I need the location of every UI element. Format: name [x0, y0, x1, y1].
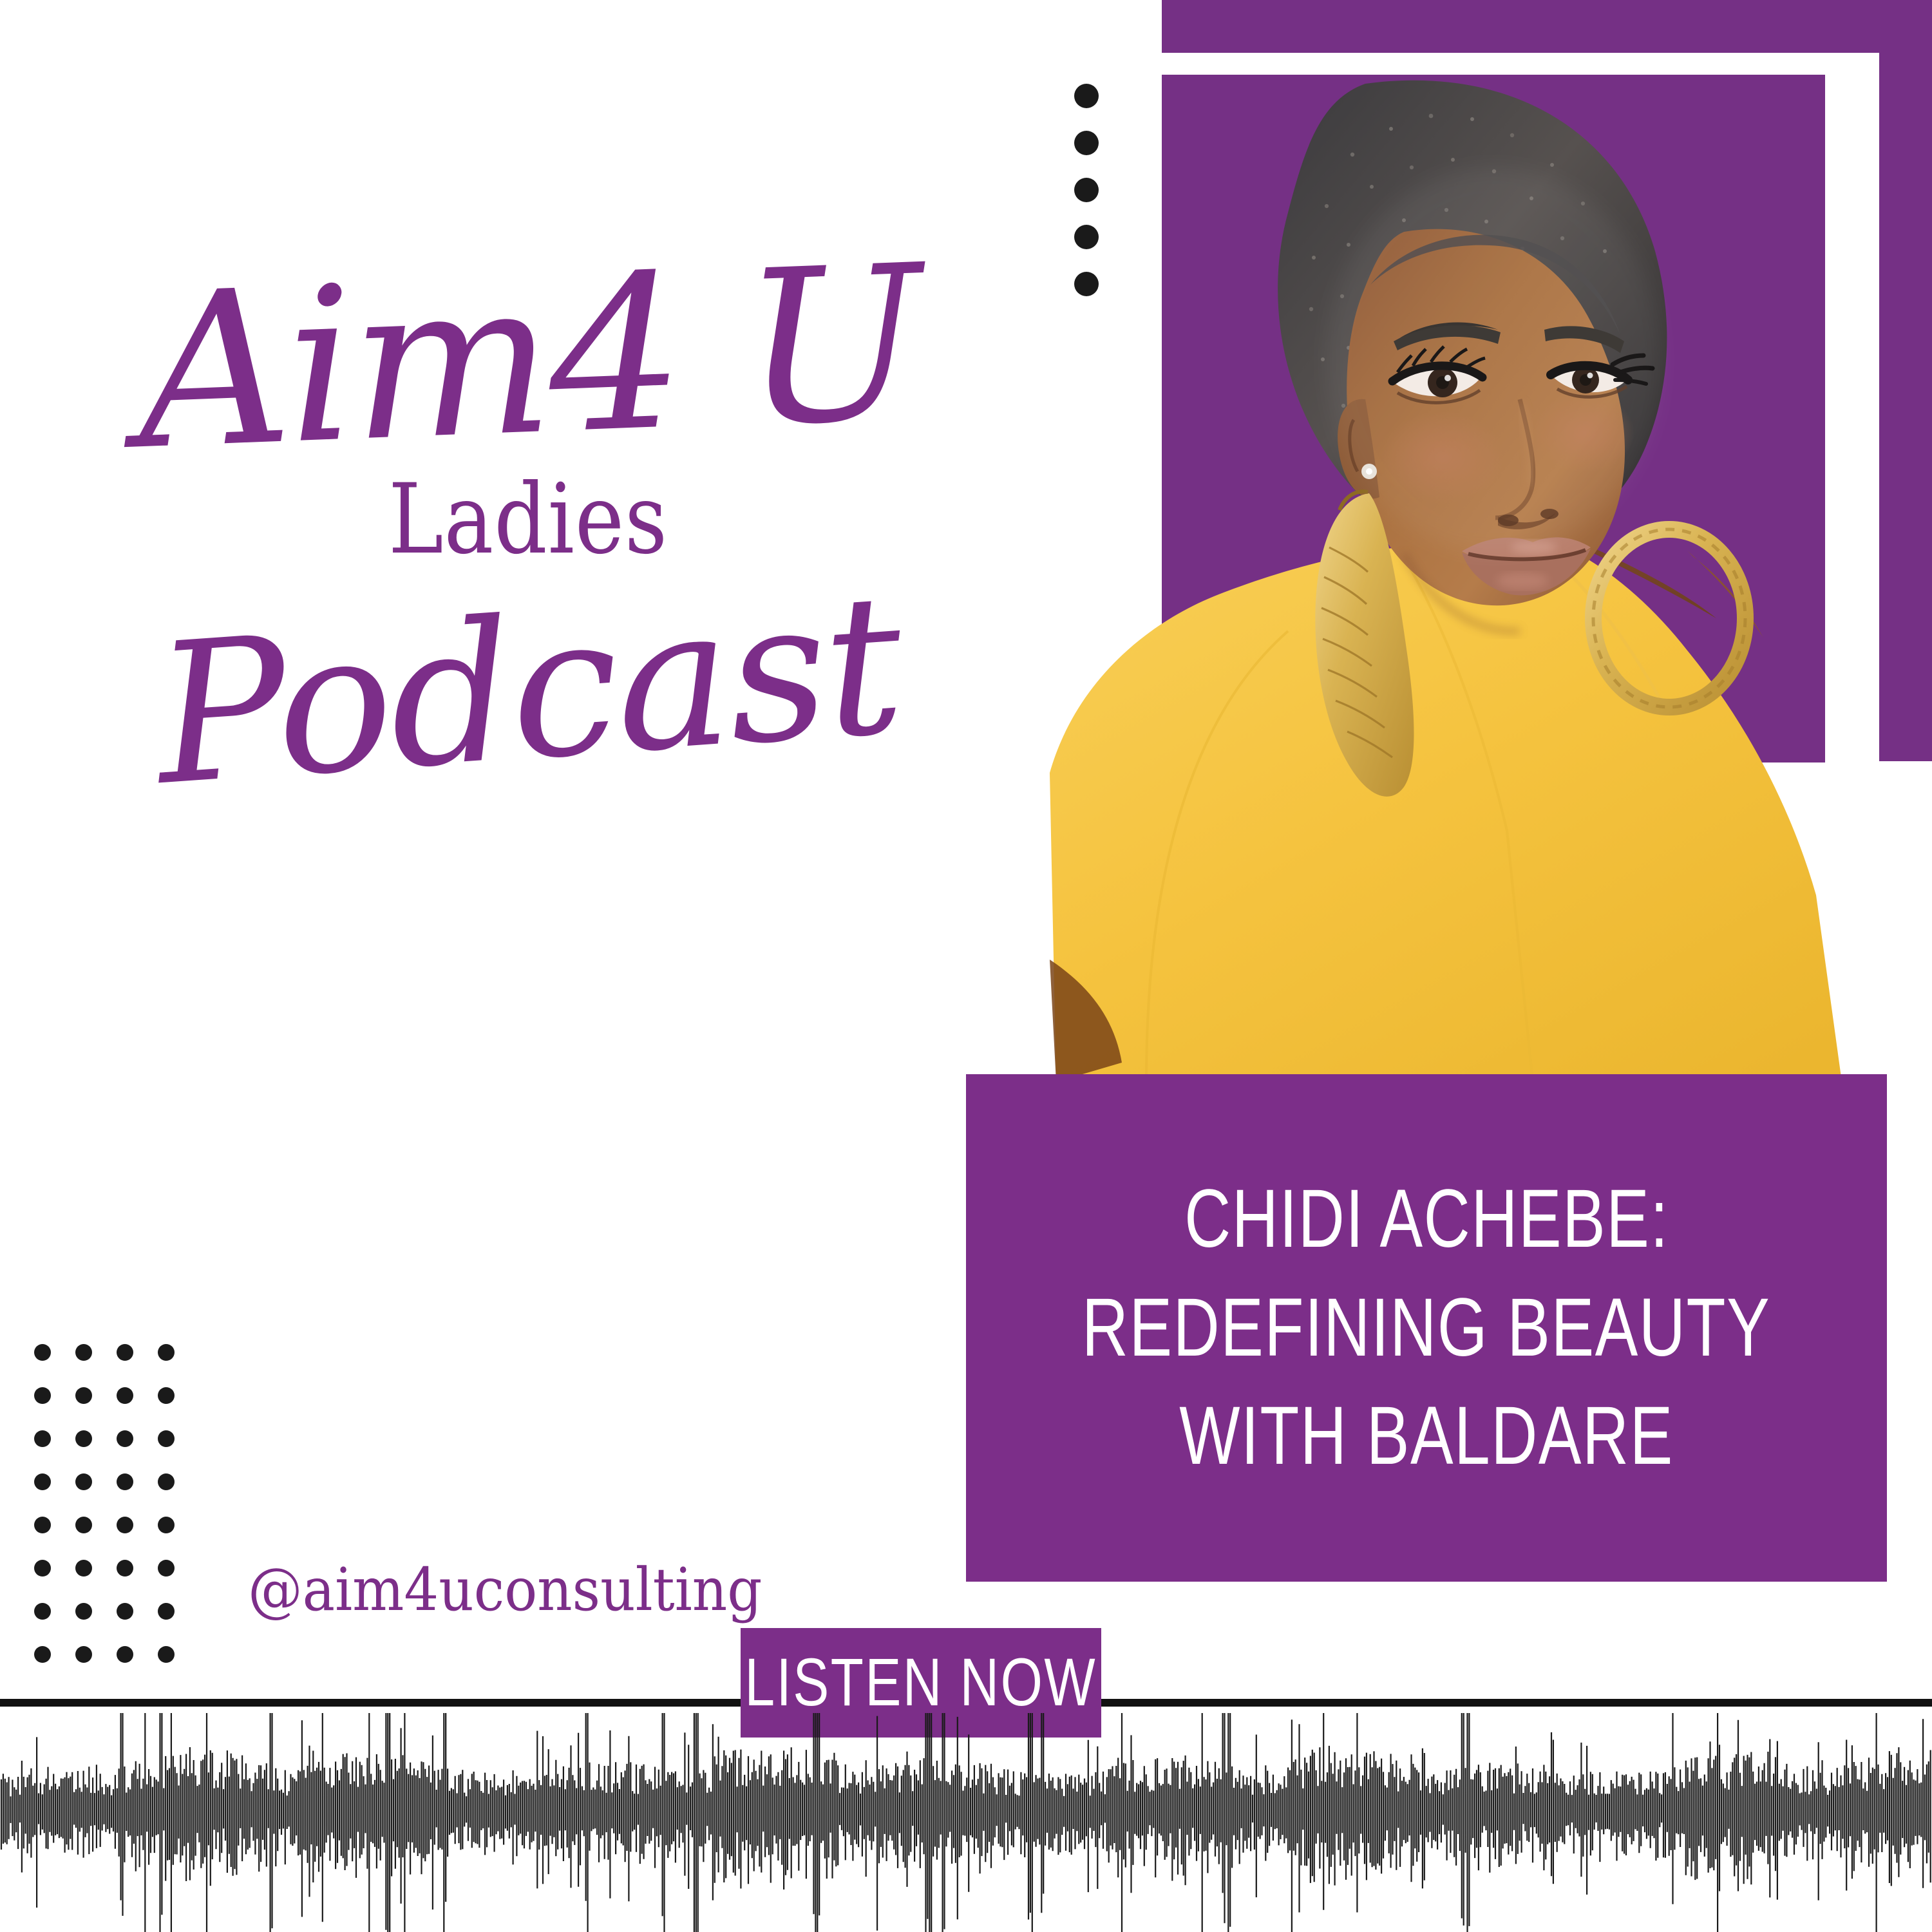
brand-podcast-script: Podcast: [20, 558, 1036, 821]
decorative-dot: [75, 1344, 92, 1361]
decorative-dot: [117, 1344, 133, 1361]
decorative-dot: [75, 1646, 92, 1663]
decorative-dot: [34, 1430, 51, 1447]
decorative-dot: [158, 1646, 175, 1663]
decorative-dot: [117, 1387, 133, 1404]
decorative-dot: [158, 1430, 175, 1447]
decorative-dot: [158, 1517, 175, 1533]
decorative-dot: [34, 1344, 51, 1361]
decorative-dot: [117, 1473, 133, 1490]
decorative-dot: [75, 1603, 92, 1620]
decorative-dot: [158, 1603, 175, 1620]
decorative-dot: [75, 1387, 92, 1404]
decorative-dot: [117, 1560, 133, 1577]
decorative-dot: [1074, 84, 1099, 108]
purple-band-right: [1879, 0, 1932, 761]
decorative-dot: [34, 1646, 51, 1663]
decorative-dot: [117, 1603, 133, 1620]
listen-now-label: LISTEN NOW: [745, 1644, 1097, 1721]
decorative-dot: [34, 1560, 51, 1577]
episode-title-line-1: CHIDI ACHEBE:: [1184, 1165, 1669, 1274]
decorative-dot: [158, 1344, 175, 1361]
decorative-dot: [1074, 131, 1099, 155]
decorative-dot: [75, 1430, 92, 1447]
episode-title-line-3: WITH BALDARE: [1179, 1382, 1674, 1491]
decorative-dot: [1074, 225, 1099, 249]
episode-title-block: CHIDI ACHEBE: REDEFINING BEAUTY WITH BAL…: [966, 1074, 1887, 1582]
decorative-dot: [117, 1517, 133, 1533]
brand-name-script: Aim4 U: [23, 238, 1034, 478]
decorative-dot: [75, 1560, 92, 1577]
brand-subtitle: Ladies: [96, 471, 960, 568]
podcast-cover: Aim4 U Ladies Podcast @aim4uconsulting C…: [0, 0, 1932, 1932]
purple-photo-backdrop: [1162, 75, 1825, 762]
decorative-dot: [117, 1430, 133, 1447]
social-handle: @aim4uconsulting: [248, 1555, 762, 1624]
podcast-brand-logo: Aim4 U Ladies Podcast: [26, 258, 1030, 787]
dot-grid-decoration: [34, 1344, 182, 1671]
decorative-dot: [117, 1646, 133, 1663]
decorative-dot: [75, 1473, 92, 1490]
dot-column-decoration: [1074, 84, 1099, 296]
decorative-dot: [158, 1560, 175, 1577]
decorative-dot: [34, 1603, 51, 1620]
decorative-dot: [34, 1387, 51, 1404]
purple-band-top: [1162, 0, 1932, 53]
decorative-dot: [1074, 272, 1099, 296]
decorative-dot: [34, 1517, 51, 1533]
decorative-dot: [158, 1473, 175, 1490]
audio-waveform: [0, 1713, 1932, 1932]
decorative-dot: [158, 1387, 175, 1404]
decorative-dot: [34, 1473, 51, 1490]
decorative-dot: [75, 1517, 92, 1533]
episode-title-line-2: REDEFINING BEAUTY: [1082, 1274, 1770, 1383]
decorative-dot: [1074, 178, 1099, 202]
